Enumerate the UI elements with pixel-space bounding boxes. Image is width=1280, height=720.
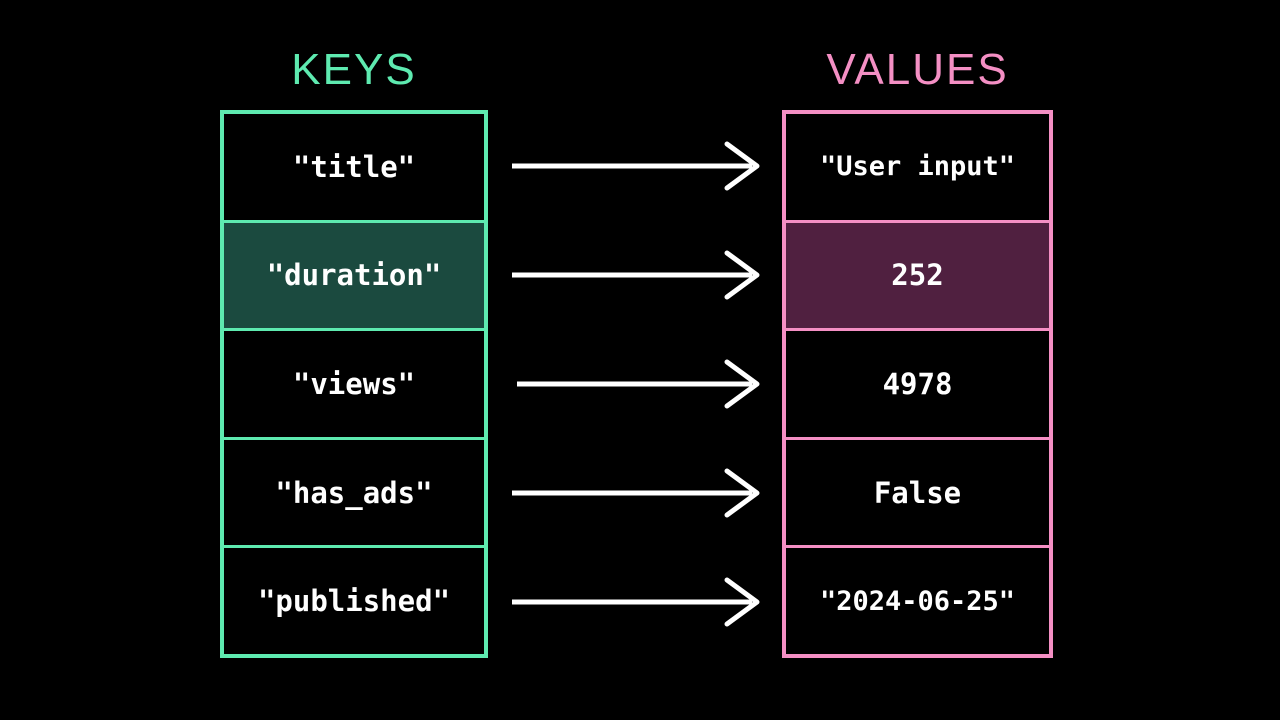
values-cell-1[interactable]: 252 — [786, 223, 1049, 332]
keys-column-title: KEYS — [220, 48, 488, 92]
values-cell-4[interactable]: "2024-06-25" — [786, 548, 1049, 654]
values-cell-2-label: 4978 — [883, 367, 953, 401]
values-cell-3-label: False — [874, 476, 961, 510]
keys-cell-0-label: "title" — [293, 150, 415, 184]
keys-cell-3-label: "has_ads" — [275, 476, 432, 510]
values-cell-1-label: 252 — [891, 258, 943, 292]
values-cell-2[interactable]: 4978 — [786, 331, 1049, 440]
keys-cell-1-label: "duration" — [267, 258, 442, 292]
values-table: "User input" 252 4978 False "2024-06-25" — [782, 110, 1053, 658]
values-cell-0-label: "User input" — [820, 151, 1015, 182]
keys-cell-4-label: "published" — [258, 584, 450, 618]
keys-cell-1[interactable]: "duration" — [224, 223, 484, 332]
values-cell-0[interactable]: "User input" — [786, 114, 1049, 223]
arrow-right-icon-0 — [512, 144, 757, 188]
keys-cell-4[interactable]: "published" — [224, 548, 484, 654]
arrow-right-icon-4 — [512, 580, 757, 624]
keys-cell-3[interactable]: "has_ads" — [224, 440, 484, 549]
keys-table: "title" "duration" "views" "has_ads" "pu… — [220, 110, 488, 658]
keys-cell-2-label: "views" — [293, 367, 415, 401]
arrow-right-icon-1 — [512, 253, 757, 297]
values-cell-3[interactable]: False — [786, 440, 1049, 549]
values-cell-4-label: "2024-06-25" — [820, 586, 1015, 617]
arrow-right-icon-2 — [517, 362, 757, 406]
arrow-right-icon-3 — [512, 471, 757, 515]
arrow-group — [0, 0, 1280, 720]
keys-cell-0[interactable]: "title" — [224, 114, 484, 223]
keys-cell-2[interactable]: "views" — [224, 331, 484, 440]
values-column-title: VALUES — [782, 48, 1053, 92]
diagram-canvas: KEYS VALUES "title" "duration" "views" "… — [0, 0, 1280, 720]
